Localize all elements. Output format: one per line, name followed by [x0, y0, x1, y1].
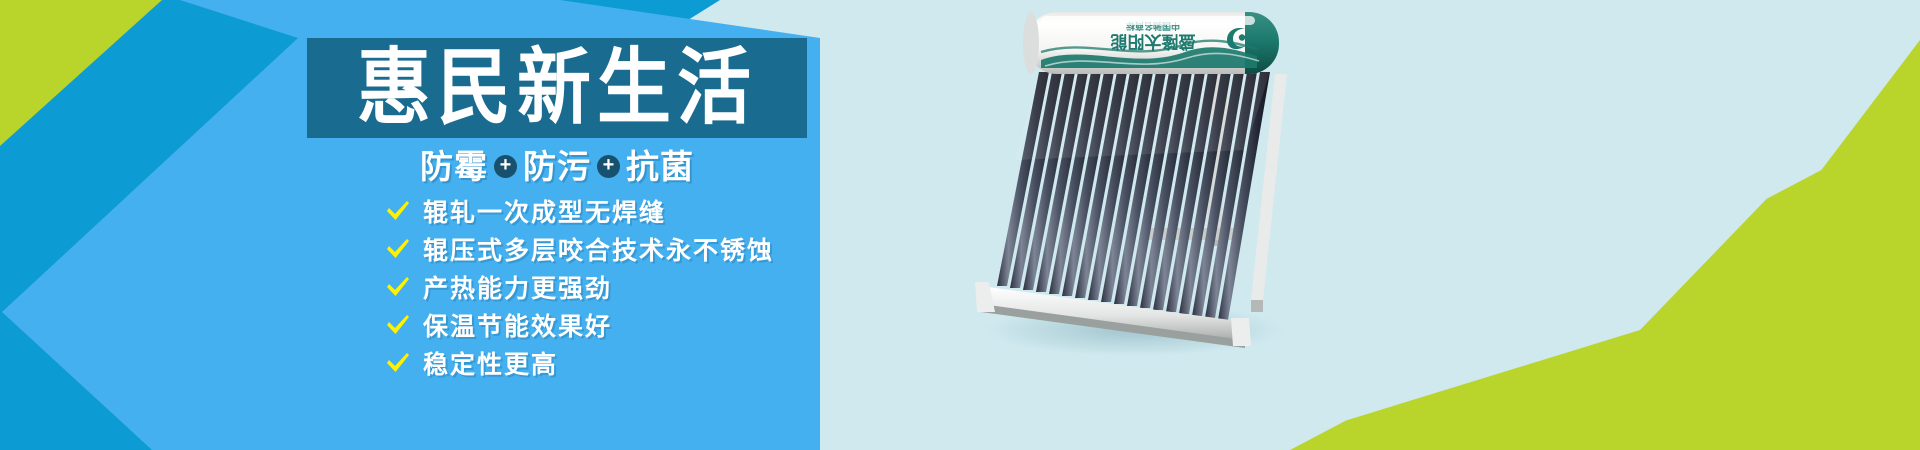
- feature-label: 辊轧一次成型无焊缝: [423, 200, 666, 225]
- feature-label: 保温节能效果好: [423, 314, 612, 339]
- feature-label: 辊压式多层咬合技术永不锈蚀: [423, 238, 774, 263]
- check-icon: [385, 351, 411, 377]
- check-icon: [385, 199, 411, 225]
- feature-label: 稳定性更高: [423, 352, 558, 377]
- product-tank: 盛隆太阳能 中国驰名商标: [1023, 12, 1285, 74]
- plus-icon-2: +: [597, 155, 620, 178]
- subtitle-word-3: 抗菌: [626, 150, 694, 183]
- promo-banner: 惠民新生活 防霉 + 防污 + 抗菌 辊轧一次成型无焊缝 辊压式多层咬合技术永不…: [0, 0, 1920, 450]
- feature-item: 辊轧一次成型无焊缝: [385, 196, 985, 228]
- feature-item: 产热能力更强劲: [385, 272, 985, 304]
- product-image: 盛隆太阳能 中国驰名商标: [945, 0, 1365, 360]
- plus-icon-1: +: [494, 155, 517, 178]
- headline-box: 惠民新生活: [307, 38, 807, 138]
- feature-label: 产热能力更强劲: [423, 276, 612, 301]
- check-icon: [385, 237, 411, 263]
- feature-list: 辊轧一次成型无焊缝 辊压式多层咬合技术永不锈蚀 产热能力更强劲 保温节能效果好 …: [385, 196, 985, 386]
- evacuated-tubes: [997, 72, 1270, 320]
- feature-item: 辊压式多层咬合技术永不锈蚀: [385, 234, 985, 266]
- feature-item: 稳定性更高: [385, 348, 985, 380]
- feature-item: 保温节能效果好: [385, 310, 985, 342]
- check-icon: [385, 275, 411, 301]
- subtitle-word-2: 防污: [523, 150, 591, 183]
- subtitle-row: 防霉 + 防污 + 抗菌: [307, 143, 807, 189]
- check-icon: [385, 313, 411, 339]
- subtitle-word-1: 防霉: [420, 150, 488, 183]
- page-title: 惠民新生活: [357, 47, 757, 130]
- product-brand-text: 盛隆太阳能: [1111, 31, 1196, 52]
